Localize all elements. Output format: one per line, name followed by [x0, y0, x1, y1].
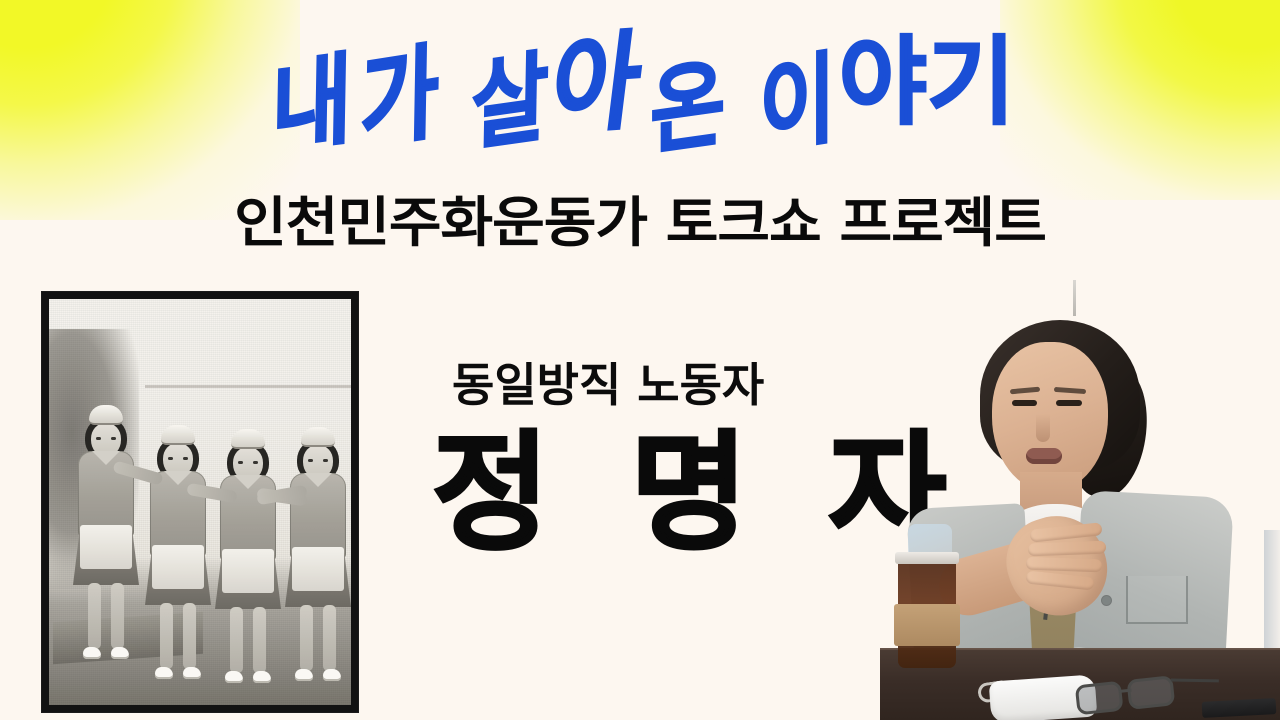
- title-char-8: 기: [927, 34, 1015, 130]
- photo-horizon: [145, 385, 351, 388]
- cup-sleeve: [894, 604, 960, 646]
- title-char-3: 살: [471, 48, 550, 156]
- speaker-eyebrow-left: [1010, 387, 1040, 395]
- project-subtitle: 인천민주화운동가 토크쇼 프로젝트: [0, 196, 1280, 250]
- figure-cap: [89, 405, 123, 425]
- figure-cap: [301, 427, 335, 447]
- figure-apron: [80, 525, 132, 569]
- speaker-nose: [1036, 414, 1050, 442]
- figure-apron: [152, 545, 204, 589]
- glasses-lens-right: [1126, 675, 1175, 710]
- title-char-7: 야: [839, 34, 927, 130]
- figure-shoes: [225, 671, 271, 684]
- figure-apron: [222, 549, 274, 593]
- figure-legs: [158, 603, 198, 677]
- photo-figure-4: [275, 427, 358, 693]
- speaker-photo: [880, 280, 1280, 720]
- figure-shoes: [295, 669, 341, 682]
- guest-role: 동일방직 노동자: [452, 362, 764, 408]
- speaker-mouth: [1026, 448, 1062, 464]
- speaker-finger: [1026, 557, 1102, 573]
- speaker-eye-left: [1012, 400, 1037, 406]
- figure-legs: [298, 605, 338, 679]
- speaker-jacket-pocket: [1126, 576, 1188, 624]
- title-char-5: 온: [650, 55, 725, 161]
- figure-legs: [86, 583, 126, 657]
- archive-photo-image: [49, 299, 351, 705]
- speaker-jacket-button: [1102, 596, 1111, 605]
- title-char-4: 아: [545, 28, 646, 141]
- glasses-temple: [1171, 679, 1219, 683]
- microphone-stand-icon: [1073, 280, 1076, 316]
- figure-legs: [228, 607, 268, 681]
- main-title: 내가살아온이야기: [0, 34, 1280, 130]
- cup-lid: [895, 552, 959, 564]
- figure-cap: [231, 429, 265, 449]
- iced-coffee-cup: [898, 558, 956, 668]
- figure-shoes: [155, 667, 201, 680]
- title-char-6: 이: [760, 48, 837, 159]
- archive-photo: [42, 292, 358, 712]
- glasses-lens-left: [1075, 681, 1124, 716]
- figure-apron: [292, 547, 344, 591]
- title-char-1: 내: [270, 49, 352, 158]
- title-char-2: 가: [360, 40, 440, 156]
- speaker-eye-right: [1056, 400, 1082, 406]
- speaker-face: [992, 342, 1108, 492]
- figure-shoes: [83, 647, 129, 660]
- thumbnail-canvas: 내가살아온이야기 인천민주화운동가 토크쇼 프로젝트: [0, 0, 1280, 720]
- speaker-finger: [1028, 541, 1106, 557]
- speaker-eyebrow-right: [1054, 387, 1086, 394]
- figure-cap: [161, 425, 195, 445]
